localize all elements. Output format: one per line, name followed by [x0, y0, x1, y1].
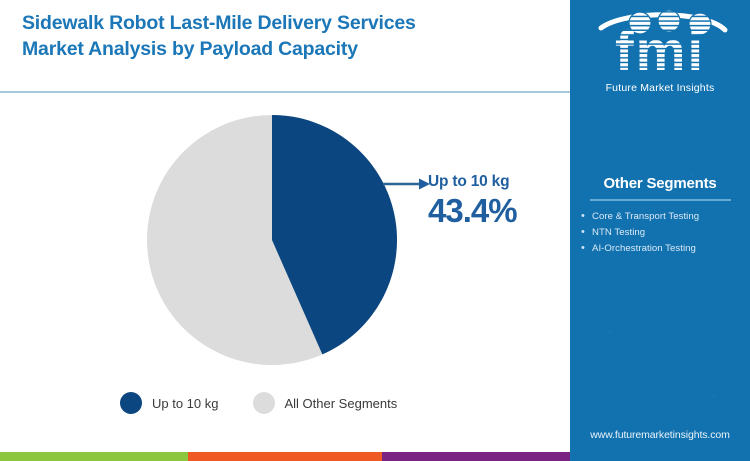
site-url[interactable]: www.futuremarketinsights.com [570, 429, 750, 441]
infographic-canvas: Sidewalk Robot Last-Mile Delivery Servic… [0, 0, 750, 461]
fmi-logo[interactable]: fmi Future Market Insights [570, 8, 750, 94]
bottom-color-bar [0, 452, 570, 461]
legend-swatch-up-to-10-kg [120, 392, 142, 414]
legend-label-all-other-segments: All Other Segments [285, 396, 398, 411]
legend-label-up-to-10-kg: Up to 10 kg [152, 396, 219, 411]
other-segments-list: Core & Transport Testing NTN Testing AI-… [570, 209, 750, 257]
other-segments-item: Core & Transport Testing [592, 209, 740, 225]
other-segments-title: Other Segments [570, 175, 750, 192]
fmi-logo-tagline: Future Market Insights [570, 82, 750, 94]
page-title-line-1: Sidewalk Robot Last-Mile Delivery Servic… [22, 10, 542, 36]
callout-arrow-icon [383, 176, 431, 192]
right-sidebar: fmi Future Market Insights Other Segment… [570, 0, 750, 461]
header-divider [0, 91, 570, 93]
fmi-logo-mark-icon: fmi [585, 8, 735, 80]
legend-item-all-other-segments[interactable]: All Other Segments [253, 392, 398, 414]
other-segments-panel: Other Segments Core & Transport Testing … [570, 175, 750, 257]
callout-value: 43.4% [428, 192, 558, 230]
other-segments-divider [590, 199, 731, 201]
bottom-bar-segment-green [0, 452, 188, 461]
pie-chart-svg [147, 115, 397, 365]
other-segments-item: AI-Orchestration Testing [592, 241, 740, 257]
bottom-bar-segment-orange [188, 452, 382, 461]
pie-chart [147, 115, 397, 365]
callout-label: Up to 10 kg [428, 173, 558, 191]
legend-item-up-to-10-kg[interactable]: Up to 10 kg [120, 392, 219, 414]
main-content-area: Sidewalk Robot Last-Mile Delivery Servic… [0, 0, 570, 461]
other-segments-item: NTN Testing [592, 225, 740, 241]
legend-swatch-all-other-segments [253, 392, 275, 414]
page-title-line-2: Market Analysis by Payload Capacity [22, 36, 542, 62]
chart-legend: Up to 10 kg All Other Segments [120, 392, 397, 414]
bottom-bar-segment-purple [382, 452, 570, 461]
svg-text:fmi: fmi [615, 19, 705, 80]
page-title: Sidewalk Robot Last-Mile Delivery Servic… [22, 10, 542, 62]
